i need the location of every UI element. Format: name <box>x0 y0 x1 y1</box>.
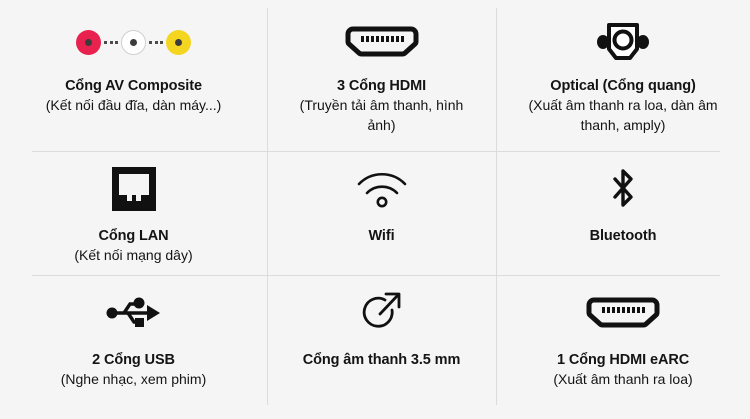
feature-cell-hdmi: 3 Cổng HDMI (Truyền tải âm thanh, hình ả… <box>267 0 496 151</box>
feature-cell-optical: Optical (Cổng quang) (Xuất âm thanh ra l… <box>496 0 750 151</box>
feature-cell-lan: Cổng LAN (Kết nối mạng dây) <box>0 151 267 275</box>
audio-jack-icon <box>358 288 406 338</box>
feature-title: Optical (Cổng quang) <box>550 77 695 95</box>
wifi-icon <box>354 164 410 214</box>
feature-subtitle: (Kết nối mạng dây) <box>74 246 192 266</box>
feature-title: Bluetooth <box>590 227 657 245</box>
feature-subtitle: (Xuất âm thanh ra loa, dàn âm thanh, amp… <box>526 96 721 136</box>
connectivity-feature-grid: Cổng AV Composite (Kết nối đầu đĩa, dàn … <box>0 0 750 419</box>
hdmi-earc-icon <box>586 288 660 338</box>
feature-cell-audio-jack: Cổng âm thanh 3.5 mm <box>267 275 496 419</box>
feature-subtitle: (Truyền tải âm thanh, hình ảnh) <box>299 96 464 136</box>
feature-cell-av-composite: Cổng AV Composite (Kết nối đầu đĩa, dàn … <box>0 0 267 151</box>
av-plug-red <box>76 30 101 55</box>
av-plug-yellow <box>166 30 191 55</box>
feature-subtitle: (Nghe nhạc, xem phim) <box>61 370 207 390</box>
feature-title: Cổng âm thanh 3.5 mm <box>303 351 461 369</box>
feature-subtitle: (Xuất âm thanh ra loa) <box>553 370 692 390</box>
feature-cell-wifi: Wifi <box>267 151 496 275</box>
feature-title: 1 Cổng HDMI eARC <box>557 351 689 369</box>
feature-title: 2 Cổng USB <box>92 351 175 369</box>
hdmi-port-icon <box>345 17 419 67</box>
feature-title: Cổng LAN <box>98 227 168 245</box>
usb-port-icon <box>104 288 164 338</box>
optical-port-icon <box>594 17 652 67</box>
lan-port-icon <box>110 164 158 214</box>
av-plug-white <box>121 30 146 55</box>
feature-title: 3 Cổng HDMI <box>337 77 426 95</box>
av-composite-icon <box>76 17 191 67</box>
av-dots-right <box>149 41 163 44</box>
feature-subtitle: (Kết nối đầu đĩa, dàn máy...) <box>46 96 222 116</box>
feature-title: Wifi <box>368 227 394 245</box>
feature-title: Cổng AV Composite <box>65 77 202 95</box>
av-dots-left <box>104 41 118 44</box>
bluetooth-icon <box>606 164 640 214</box>
feature-cell-usb: 2 Cổng USB (Nghe nhạc, xem phim) <box>0 275 267 419</box>
feature-cell-hdmi-earc: 1 Cổng HDMI eARC (Xuất âm thanh ra loa) <box>496 275 750 419</box>
feature-cell-bluetooth: Bluetooth <box>496 151 750 275</box>
